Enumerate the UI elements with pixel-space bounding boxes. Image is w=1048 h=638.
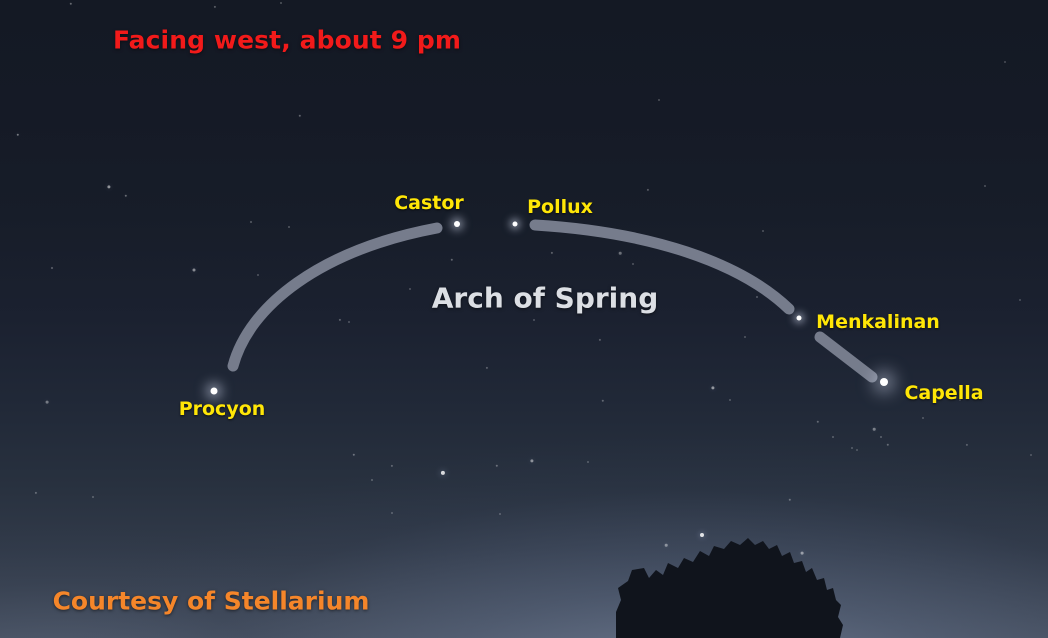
background-star	[887, 444, 889, 446]
background-star	[70, 3, 72, 5]
background-star	[756, 296, 758, 298]
background-star	[632, 263, 634, 265]
background-star	[371, 479, 373, 481]
background-star	[744, 336, 746, 338]
background-star	[193, 269, 196, 272]
background-star	[817, 421, 819, 423]
star-pollux	[513, 222, 518, 227]
background-star	[700, 533, 704, 537]
background-star	[46, 401, 49, 404]
background-star	[391, 512, 393, 514]
background-star	[353, 454, 355, 456]
background-star	[451, 259, 453, 261]
background-star	[880, 436, 882, 438]
background-star	[499, 513, 501, 515]
star-label-menkalinan: Menkalinan	[816, 311, 940, 333]
star-capella	[880, 378, 888, 386]
background-star	[711, 386, 714, 389]
background-star	[599, 339, 601, 341]
background-star	[533, 319, 535, 321]
background-star	[441, 471, 445, 475]
background-star	[801, 552, 804, 555]
background-star	[851, 447, 853, 449]
background-star	[51, 267, 53, 269]
background-star	[587, 461, 589, 463]
background-star	[214, 6, 216, 8]
background-star	[1030, 454, 1032, 456]
background-star	[729, 399, 731, 401]
background-star	[250, 221, 252, 223]
background-star	[288, 226, 290, 228]
sky-chart-scene: CastorPolluxMenkalinanCapellaProcyon Fac…	[0, 0, 1048, 638]
background-star	[280, 2, 282, 4]
background-star	[832, 436, 834, 438]
background-star	[530, 459, 533, 462]
background-star	[984, 185, 986, 187]
background-star	[257, 274, 259, 276]
background-star	[551, 252, 553, 254]
star-label-procyon: Procyon	[179, 398, 266, 420]
facing-direction-title: Facing west, about 9 pm	[113, 26, 461, 55]
stellarium-credit: Courtesy of Stellarium	[53, 587, 370, 616]
arch-of-spring-label: Arch of Spring	[432, 282, 659, 315]
background-star	[1019, 299, 1021, 301]
background-star	[17, 134, 19, 136]
background-star	[496, 465, 498, 467]
background-star	[409, 288, 411, 290]
background-star	[966, 444, 968, 446]
background-star	[486, 367, 488, 369]
background-star	[35, 492, 37, 494]
star-procyon	[211, 388, 218, 395]
background-star	[125, 195, 127, 197]
background-star	[107, 185, 110, 188]
background-star	[602, 400, 604, 402]
background-star	[658, 99, 660, 101]
background-star	[856, 449, 858, 451]
star-label-capella: Capella	[904, 382, 983, 404]
background-star	[391, 465, 393, 467]
background-star	[873, 428, 876, 431]
background-star	[647, 189, 649, 191]
background-star	[1004, 61, 1006, 63]
star-menkalinan	[797, 316, 802, 321]
background-star	[789, 499, 791, 501]
star-castor	[454, 221, 460, 227]
background-star	[665, 544, 668, 547]
background-star	[619, 252, 622, 255]
background-star	[762, 230, 764, 232]
star-label-pollux: Pollux	[527, 196, 593, 218]
background-star	[922, 417, 924, 419]
star-label-castor: Castor	[394, 192, 464, 214]
background-star	[348, 321, 350, 323]
background-star	[339, 319, 341, 321]
background-star	[299, 115, 301, 117]
background-star	[92, 496, 94, 498]
